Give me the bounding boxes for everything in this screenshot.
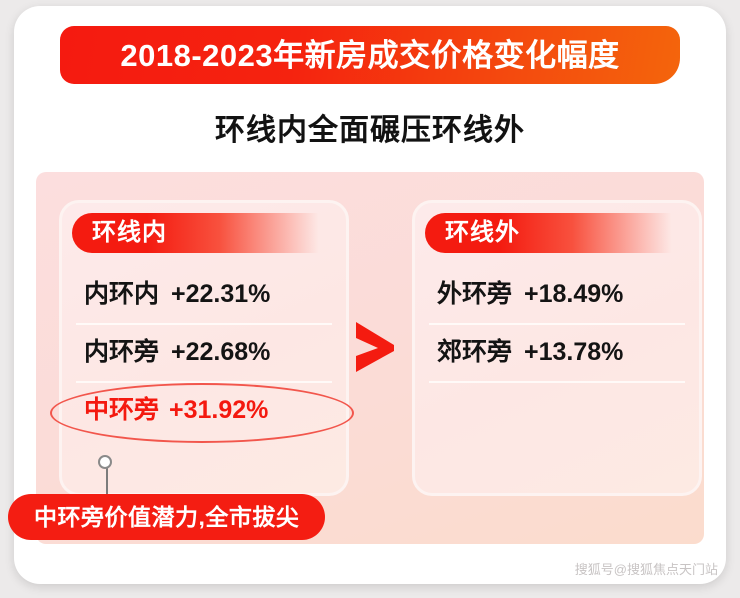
row-value: +18.49% xyxy=(524,282,623,307)
row-value: +31.92% xyxy=(169,398,268,423)
banner-title: 2018-2023年新房成交价格变化幅度 xyxy=(120,40,619,71)
callout-pill: 中环旁价值潜力,全市拔尖 xyxy=(8,494,325,540)
table-row: 外环旁 +18.49% xyxy=(415,265,699,323)
panel-outer-ring-title: 环线外 xyxy=(445,221,520,245)
row-label: 内环旁 xyxy=(84,340,159,365)
greater-than-icon xyxy=(352,318,398,376)
subtitle-text: 环线内全面碾压环线外 xyxy=(0,116,740,146)
row-label: 外环旁 xyxy=(437,282,512,307)
callout-marker-dot xyxy=(98,455,112,469)
watermark: 搜狐号@搜狐焦点天门站 xyxy=(575,563,718,576)
table-row: 郊环旁 +13.78% xyxy=(415,323,699,381)
panel-inner-ring-header: 环线内 xyxy=(72,213,340,253)
row-value: +22.31% xyxy=(171,282,270,307)
panel-outer-ring: 环线外 外环旁 +18.49% 郊环旁 +13.78% xyxy=(412,200,702,496)
title-banner: 2018-2023年新房成交价格变化幅度 xyxy=(60,26,680,84)
table-row-empty xyxy=(415,381,699,439)
callout-text: 中环旁价值潜力,全市拔尖 xyxy=(34,506,299,529)
infographic-stage: 2018-2023年新房成交价格变化幅度 环线内全面碾压环线外 环线内 内环内 … xyxy=(0,0,740,598)
table-row: 内环内 +22.31% xyxy=(62,265,346,323)
row-label: 内环内 xyxy=(84,282,159,307)
panel-inner-ring: 环线内 内环内 +22.31% 内环旁 +22.68% 中环旁 +31.92% xyxy=(59,200,349,496)
panel-inner-ring-title: 环线内 xyxy=(92,221,167,245)
row-label: 郊环旁 xyxy=(437,340,512,365)
panel-outer-ring-rows: 外环旁 +18.49% 郊环旁 +13.78% xyxy=(415,265,699,439)
row-value: +22.68% xyxy=(171,340,270,365)
panel-outer-ring-header: 环线外 xyxy=(425,213,693,253)
panel-inner-ring-rows: 内环内 +22.31% 内环旁 +22.68% 中环旁 +31.92% xyxy=(62,265,346,439)
table-row-highlighted: 中环旁 +31.92% xyxy=(62,381,346,439)
table-row: 内环旁 +22.68% xyxy=(62,323,346,381)
row-label: 中环旁 xyxy=(84,398,159,423)
row-value: +13.78% xyxy=(524,340,623,365)
